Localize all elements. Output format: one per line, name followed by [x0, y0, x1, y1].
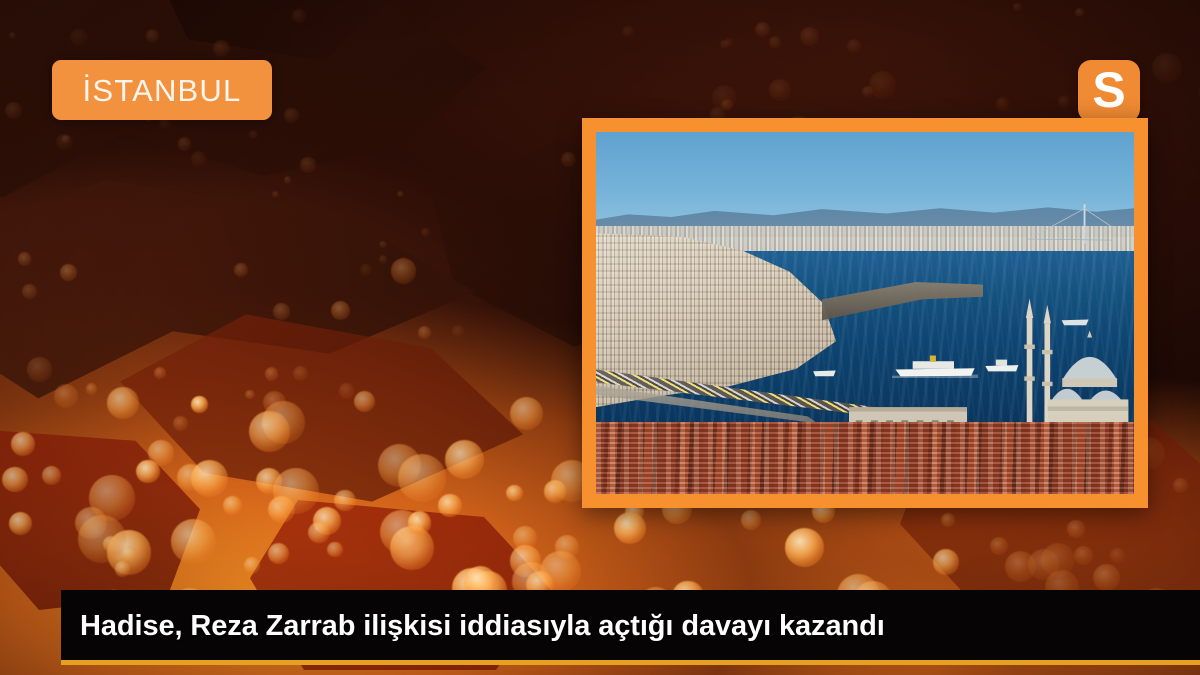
photo-card	[582, 118, 1148, 508]
photo-boat-2	[811, 364, 838, 378]
location-badge-label: İSTANBUL	[83, 75, 242, 106]
location-badge: İSTANBUL	[52, 60, 272, 120]
photo-bosphorus-bridge	[1026, 201, 1112, 255]
istanbul-cityscape-photo	[596, 132, 1134, 494]
headline-accent-rule	[61, 660, 1200, 665]
photo-ferry-1	[892, 353, 978, 378]
logo-letter-mark: S	[1092, 65, 1125, 115]
photo-foreground-rooftop-texture	[596, 422, 1134, 494]
sabah-logo[interactable]: S	[1078, 60, 1140, 122]
headline-bar: Hadise, Reza Zarrab ilişkisi iddiasıyla …	[61, 590, 1200, 662]
headline-text: Hadise, Reza Zarrab ilişkisi iddiasıyla …	[80, 610, 885, 643]
news-card-canvas: İSTANBUL S	[0, 0, 1200, 675]
